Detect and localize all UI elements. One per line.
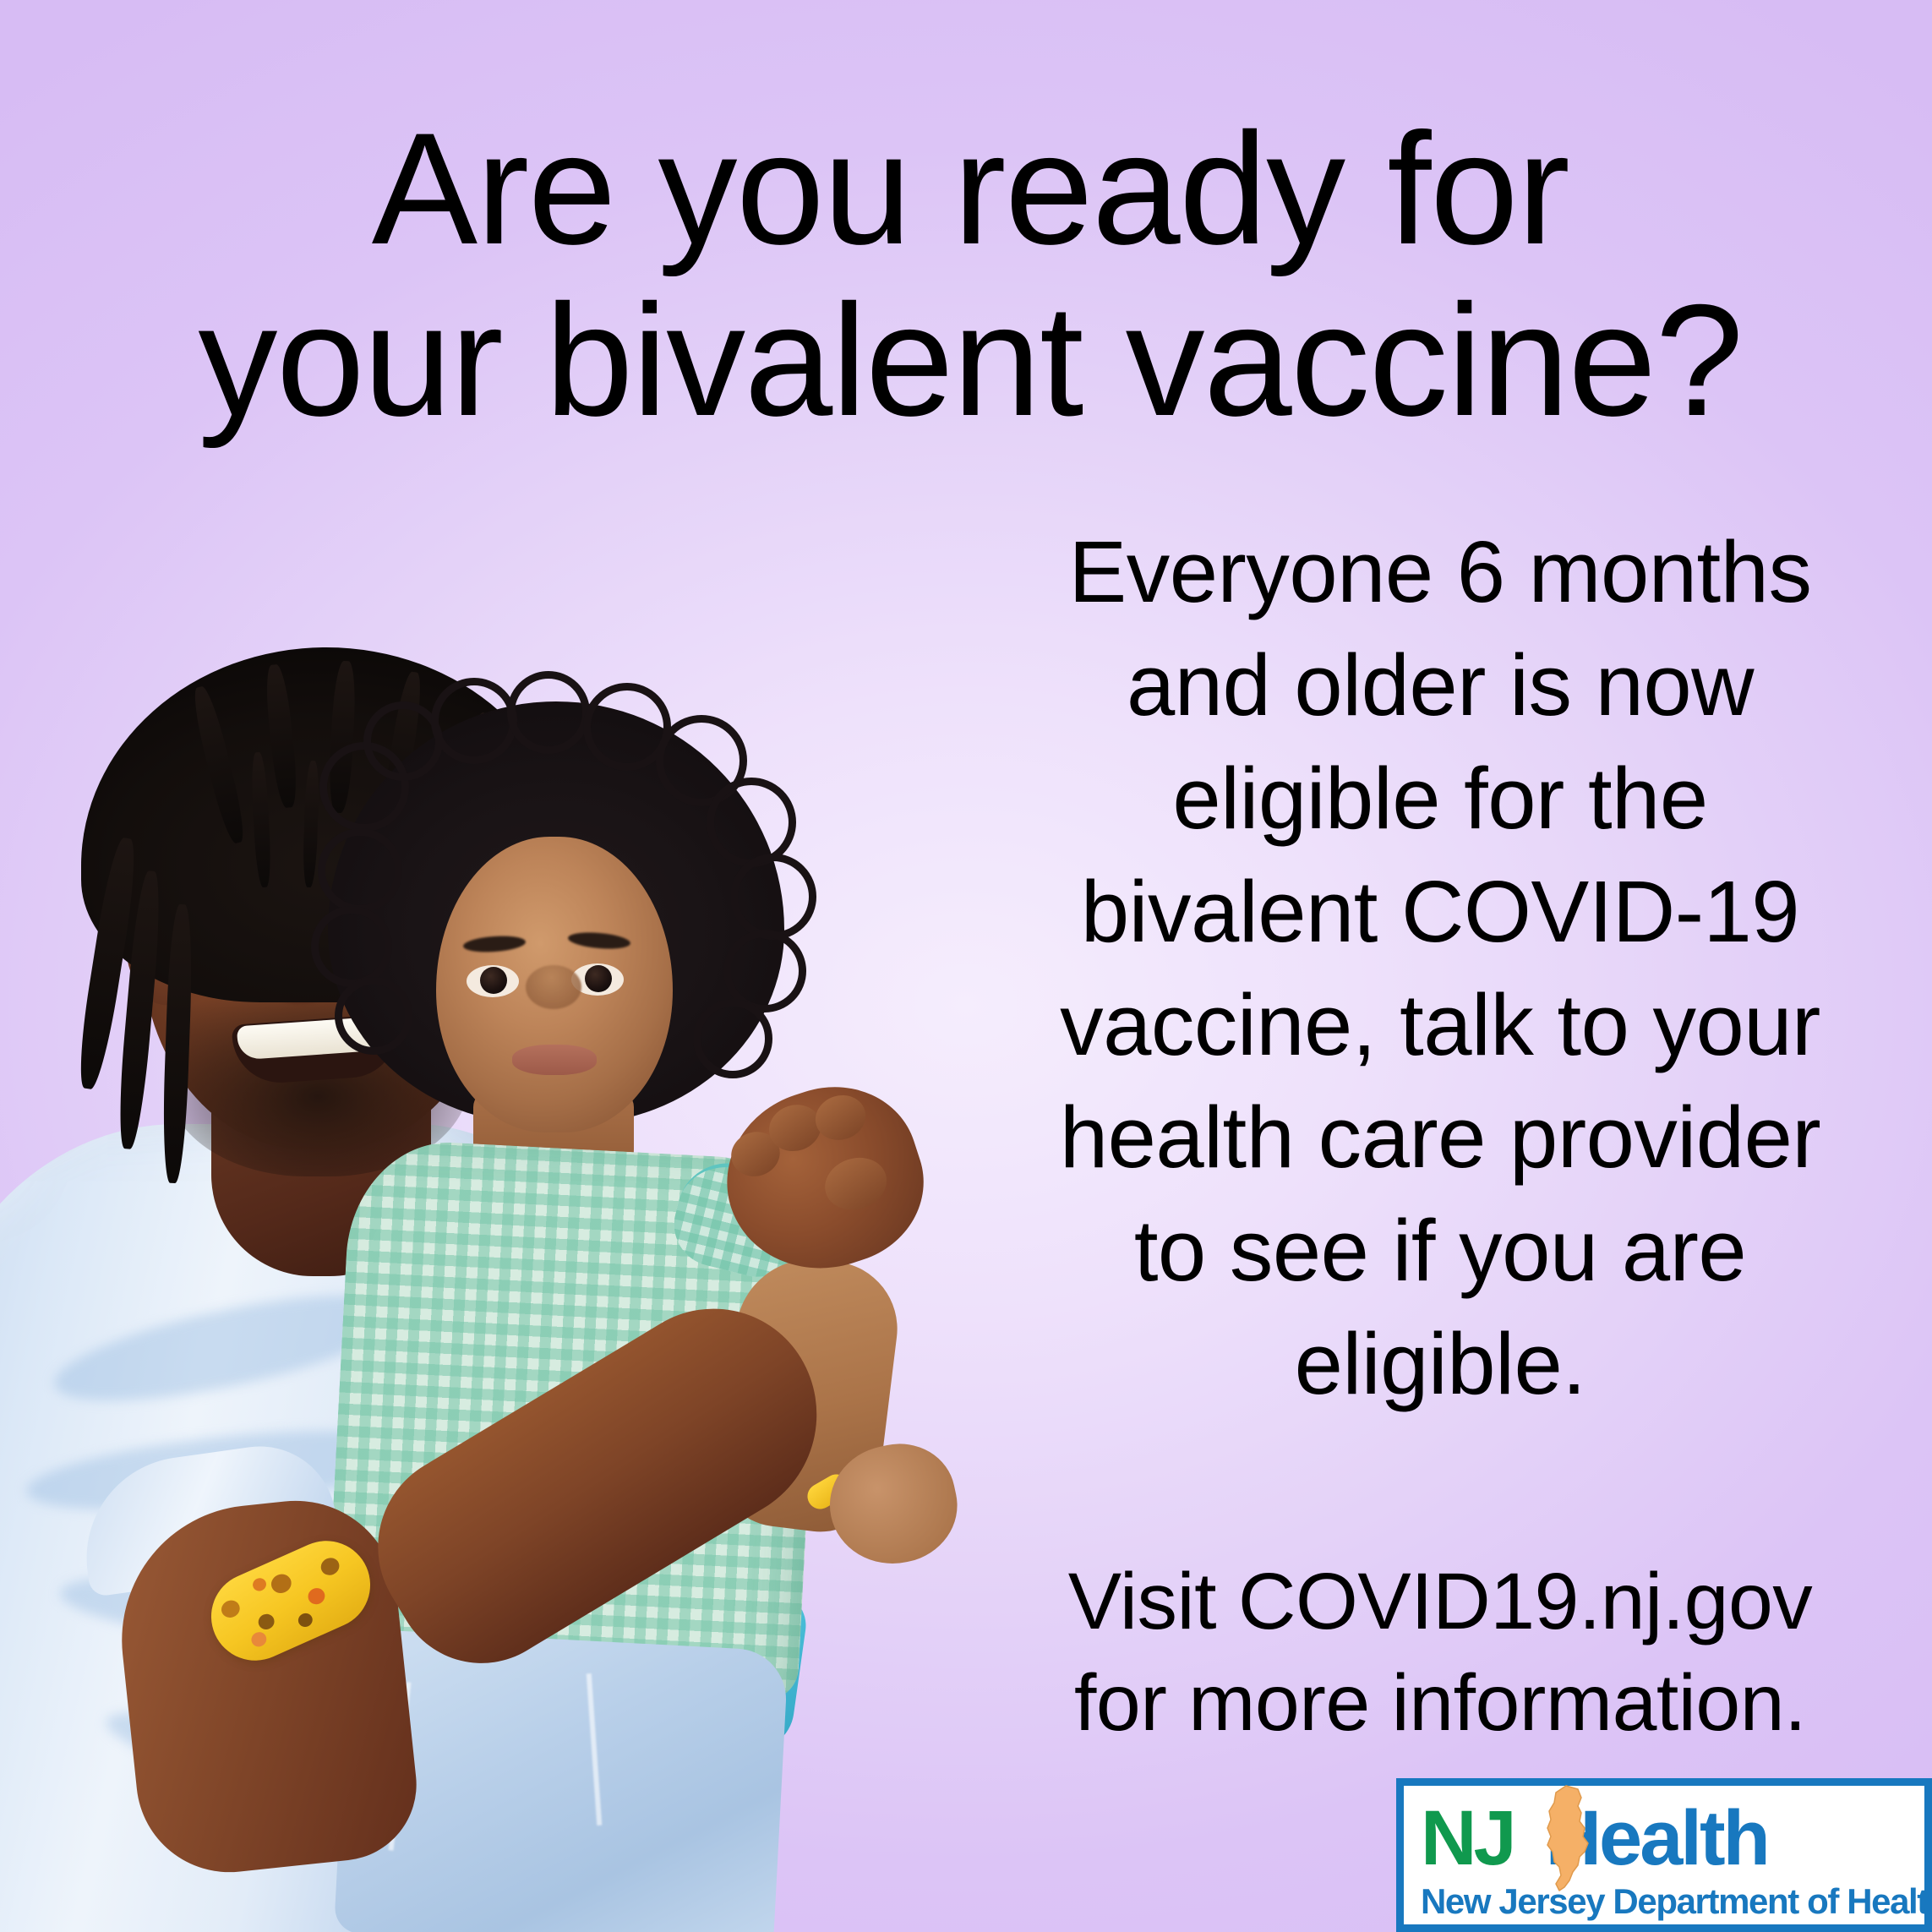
logo-subtitle: New Jersey Department of Health [1421,1884,1913,1919]
hair-curl [431,678,517,764]
hair-curl [730,854,816,940]
hair-curl [318,828,402,913]
hair-curl [693,999,772,1078]
child-mouth [512,1045,597,1075]
body-text-column: Everyone 6 months and older is now eligi… [958,516,1922,1421]
man-upper-arm [108,1491,423,1881]
hair-curl [311,906,392,987]
child-eye [467,965,519,997]
hair-curl [707,778,796,867]
nj-health-logo[interactable]: NJ Health New Jersey Department of Healt… [1396,1778,1932,1932]
hair-curl [335,977,412,1055]
eligibility-paragraph: Everyone 6 months and older is now eligi… [958,516,1922,1421]
new-jersey-state-outline-icon [1541,1784,1596,1892]
family-vaccination-photo [0,583,1031,1932]
knuckle [810,1089,871,1146]
logo-wordmark: NJ Health [1421,1794,1913,1882]
hair-curl [507,671,590,754]
poster-canvas: Are you ready for your bivalent vaccine?… [0,0,1932,1932]
page-title: Are you ready for your bivalent vaccine? [100,103,1841,446]
website-call-to-action[interactable]: Visit COVID19.nj.gov for more informatio… [958,1552,1922,1754]
child-nose [526,965,581,1009]
knuckle [818,1150,893,1218]
logo-nj-text: NJ [1421,1799,1514,1877]
